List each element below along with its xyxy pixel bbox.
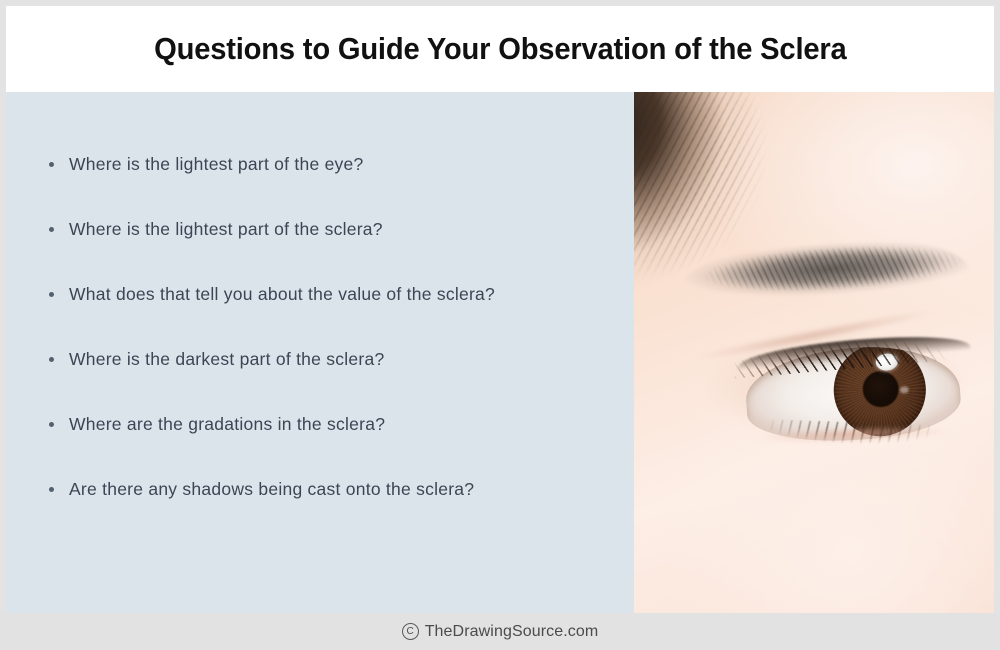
list-item: Where is the lightest part of the eye? — [44, 154, 624, 175]
eye-photograph — [634, 92, 994, 613]
question-text: Where are the gradations in the sclera? — [69, 414, 385, 434]
questions-panel: Where is the lightest part of the eye? W… — [6, 92, 634, 613]
bullet-icon — [49, 487, 54, 492]
bullet-icon — [49, 227, 54, 232]
footer-band: C TheDrawingSource.com — [0, 613, 1000, 650]
list-item: What does that tell you about the value … — [44, 284, 624, 305]
bullet-icon — [49, 422, 54, 427]
bullet-icon — [49, 357, 54, 362]
list-item: Where are the gradations in the sclera? — [44, 414, 624, 435]
list-item: Where is the lightest part of the sclera… — [44, 219, 624, 240]
question-text: Where is the lightest part of the eye? — [69, 154, 364, 174]
list-item: Where is the darkest part of the sclera? — [44, 349, 624, 370]
bullet-icon — [49, 292, 54, 297]
copyright-icon: C — [402, 623, 419, 640]
credit-line: C TheDrawingSource.com — [402, 623, 599, 641]
title-band: Questions to Guide Your Observation of t… — [6, 6, 994, 92]
questions-list: Where is the lightest part of the eye? W… — [44, 154, 624, 500]
question-text: Where is the darkest part of the sclera? — [69, 349, 384, 369]
list-item: Are there any shadows being cast onto th… — [44, 479, 624, 500]
credit-text: TheDrawingSource.com — [425, 623, 599, 641]
lower-eyelashes — [753, 419, 954, 466]
page-title: Questions to Guide Your Observation of t… — [154, 31, 846, 67]
question-text: Are there any shadows being cast onto th… — [69, 479, 474, 499]
bullet-icon — [49, 162, 54, 167]
infographic-root: Questions to Guide Your Observation of t… — [0, 0, 1000, 650]
question-text: Where is the lightest part of the sclera… — [69, 219, 383, 239]
question-text: What does that tell you about the value … — [69, 284, 495, 304]
